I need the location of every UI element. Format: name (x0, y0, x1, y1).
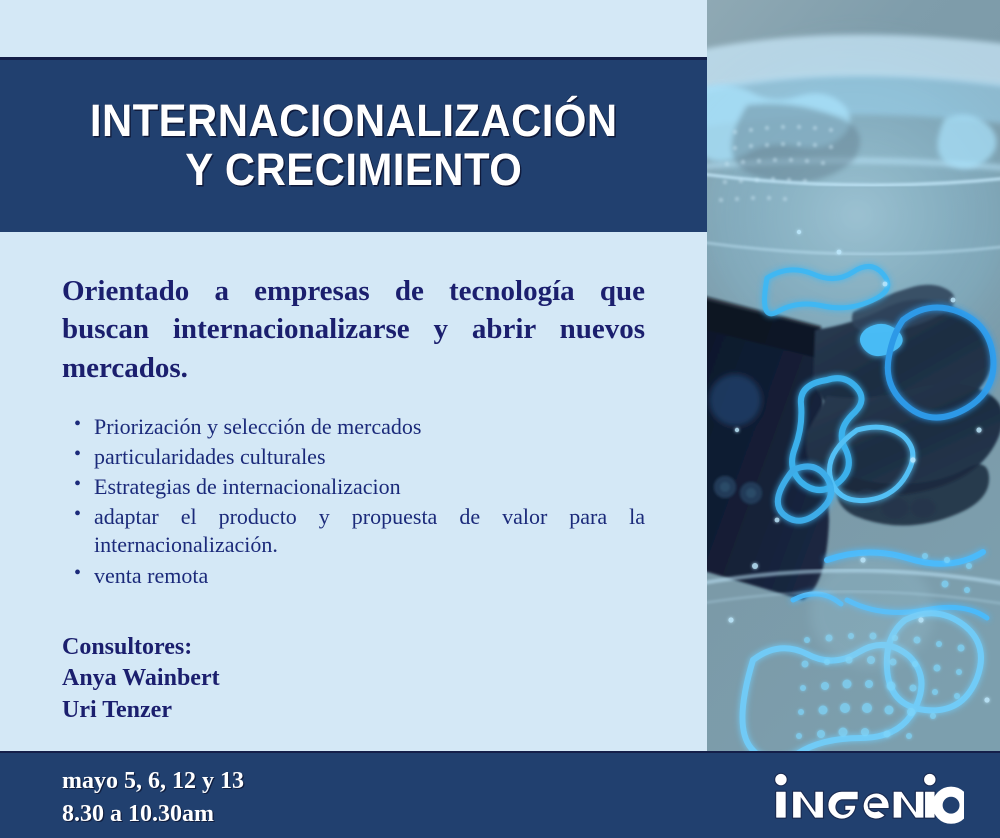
list-item: Estrategias de internacionalizacion (92, 473, 645, 501)
ingenio-logo (768, 767, 964, 825)
handshake-globe-illustration (707, 0, 1000, 838)
intro-paragraph: Orientado a empresas de tecnología que b… (62, 272, 645, 387)
list-item: particularidades culturales (92, 443, 645, 471)
consultants-block: Consultores: Anya Wainbert Uri Tenzer (62, 632, 645, 727)
consultants-heading: Consultores: (62, 632, 645, 664)
event-dates: mayo 5, 6, 12 y 13 (62, 765, 244, 798)
list-item: venta remota (92, 562, 645, 590)
ingenio-wordmark-icon (768, 767, 964, 825)
topics-list: Priorización y selección de mercados par… (62, 413, 645, 590)
hero-image-panel (707, 0, 1000, 838)
title-band: INTERNACIONALIZACIÓN Y CRECIMIENTO (0, 57, 707, 232)
page-title: INTERNACIONALIZACIÓN Y CRECIMIENTO (77, 97, 631, 194)
content-area: Orientado a empresas de tecnología que b… (0, 232, 707, 752)
list-item: Priorización y selección de mercados (92, 413, 645, 441)
list-item: adaptar el producto y propuesta de valor… (92, 503, 645, 559)
footer-bar: mayo 5, 6, 12 y 13 8.30 a 10.30am (0, 751, 1000, 838)
consultant-name: Anya Wainbert (62, 663, 645, 695)
schedule-block: mayo 5, 6, 12 y 13 8.30 a 10.30am (62, 765, 244, 831)
poster-canvas: INTERNACIONALIZACIÓN Y CRECIMIENTO Orien… (0, 0, 1000, 838)
consultant-name: Uri Tenzer (62, 695, 645, 727)
event-time: 8.30 a 10.30am (62, 798, 244, 831)
